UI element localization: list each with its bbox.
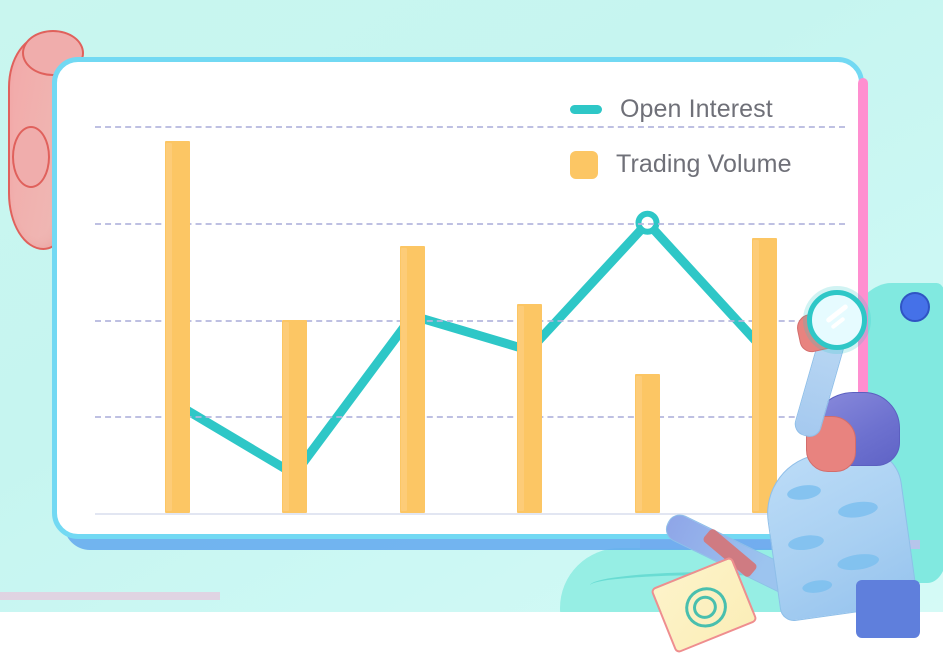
legend-item-trading-volume[interactable]: Trading Volume [570,150,792,179]
gridline-4 [95,416,845,418]
bar-highlight [166,143,172,511]
chart-plot-area [57,62,859,534]
square-swatch-icon [570,151,598,179]
bar-highlight [518,306,524,511]
line-swatch-icon [570,105,602,114]
legend-label-open-interest: Open Interest [620,95,773,124]
bar-highlight [753,240,759,511]
screenshot-root: Open Interest Trading Volume [0,0,943,660]
decorative-pink-cloud-bump [12,126,50,188]
person-leg [856,580,920,638]
magnifier-icon [807,290,867,350]
bar-highlight [283,322,289,512]
bar-highlight [401,248,407,511]
gridline-3 [95,320,845,322]
legend-label-trading-volume: Trading Volume [616,150,792,179]
x-axis-baseline [95,513,845,515]
bar-highlight [636,376,642,511]
gridline-1 [95,126,845,128]
open-interest-polyline [178,223,765,475]
chart-card: Open Interest Trading Volume [52,57,864,539]
gridline-2 [95,223,845,225]
legend-item-open-interest[interactable]: Open Interest [570,95,773,124]
decorative-pink-band [0,592,220,600]
